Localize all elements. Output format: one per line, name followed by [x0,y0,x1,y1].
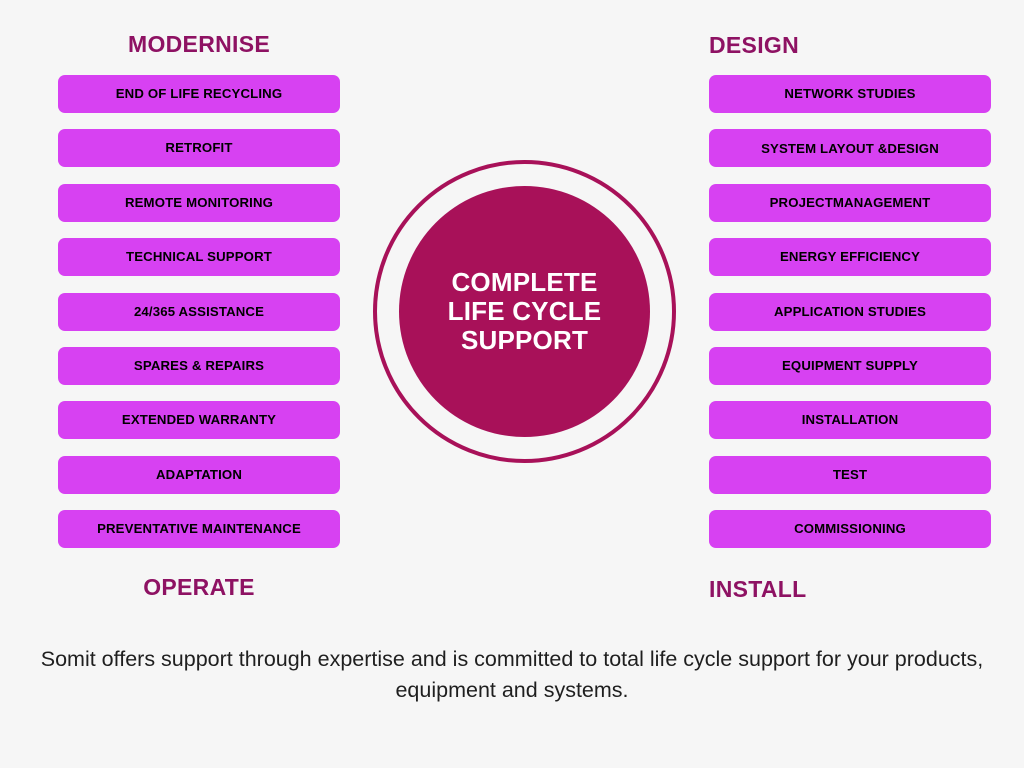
service-pill-label: SYSTEM LAYOUT & [761,142,887,156]
service-pill[interactable]: EQUIPMENT SUPPLY [709,347,991,385]
left-service-column: END OF LIFE RECYCLINGRETROFITREMOTE MONI… [58,75,340,548]
service-pill[interactable]: ENERGY EFFICIENCY [709,238,991,276]
right-service-column: NETWORK STUDIESSYSTEM LAYOUT &DESIGNPROJ… [709,75,991,548]
quadrant-heading-install: INSTALL [709,576,991,603]
service-pill[interactable]: RETROFIT [58,129,340,167]
quadrant-heading-operate: OPERATE [58,574,340,601]
service-pill-label: EXTENDED WARRANTY [122,413,276,427]
service-pill-label: PROJECT [770,196,833,210]
service-pill[interactable]: PREVENTATIVE MAINTENANCE [58,510,340,548]
service-pill-label: RETROFIT [165,141,232,155]
service-pill-label: MANAGEMENT [833,196,930,210]
service-pill[interactable]: COMMISSIONING [709,510,991,548]
service-pill[interactable]: EXTENDED WARRANTY [58,401,340,439]
service-pill[interactable]: TEST [709,456,991,494]
service-pill-label: EQUIPMENT SUPPLY [782,359,918,373]
caption-text: Somit offers support through expertise a… [36,644,988,705]
center-emblem: COMPLETE LIFE CYCLE SUPPORT [373,160,676,463]
service-pill[interactable]: REMOTE MONITORING [58,184,340,222]
service-pill-label: ENERGY EFFICIENCY [780,250,920,264]
service-pill[interactable]: APPLICATION STUDIES [709,293,991,331]
service-pill-label: REMOTE MONITORING [125,196,273,210]
center-disc: COMPLETE LIFE CYCLE SUPPORT [399,186,650,437]
service-pill-label: SPARES & REPAIRS [134,359,264,373]
service-pill-label: INSTALLATION [802,413,899,427]
service-pill[interactable]: ADAPTATION [58,456,340,494]
service-pill-label: TECHNICAL SUPPORT [126,250,272,264]
service-pill-label: ADAPTATION [156,468,242,482]
service-pill-label: NETWORK STUDIES [784,87,915,101]
service-pill[interactable]: END OF LIFE RECYCLING [58,75,340,113]
quadrant-heading-design: DESIGN [709,32,991,59]
service-pill[interactable]: PROJECTMANAGEMENT [709,184,991,222]
service-pill[interactable]: SPARES & REPAIRS [58,347,340,385]
service-pill-label: END OF LIFE RECYCLING [116,87,283,101]
service-pill[interactable]: INSTALLATION [709,401,991,439]
service-pill[interactable]: NETWORK STUDIES [709,75,991,113]
service-pill[interactable]: SYSTEM LAYOUT &DESIGN [709,129,991,167]
quadrant-heading-modernise: MODERNISE [58,31,340,58]
service-pill[interactable]: TECHNICAL SUPPORT [58,238,340,276]
service-pill-label: COMMISSIONING [794,522,906,536]
service-pill[interactable]: 24/365 ASSISTANCE [58,293,340,331]
diagram-canvas: MODERNISE DESIGN OPERATE INSTALL END OF … [0,0,1024,768]
center-label: COMPLETE LIFE CYCLE SUPPORT [448,268,602,355]
service-pill-label: PREVENTATIVE MAINTENANCE [97,522,301,536]
service-pill-label: TEST [833,468,867,482]
service-pill-label: DESIGN [887,142,938,156]
service-pill-label: 24/365 ASSISTANCE [134,305,264,319]
service-pill-label: APPLICATION STUDIES [774,305,926,319]
